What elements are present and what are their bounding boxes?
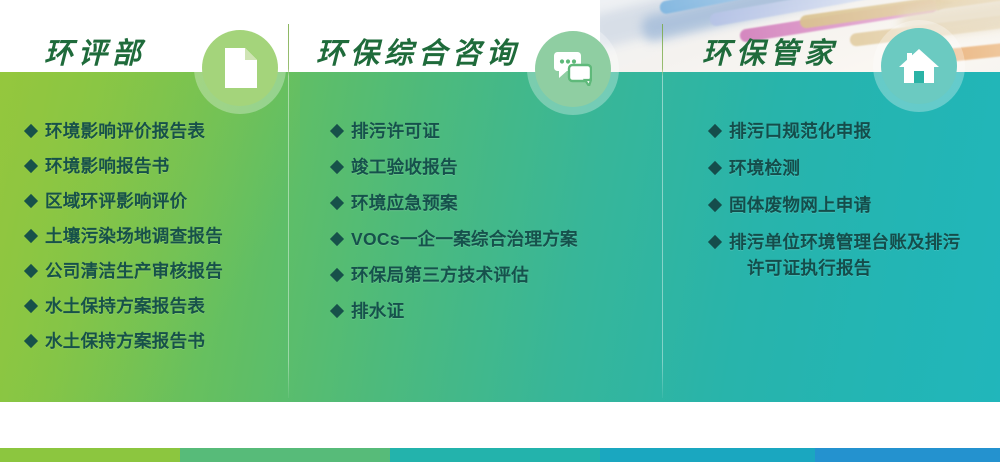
list-huanpingbu: 环境影响评价报告表 环境影响报告书 区域环评影响评价 土壤污染场地调查报告 公司… [0,118,288,354]
list-item[interactable]: VOCs一企一案综合治理方案 [332,226,662,252]
diamond-bullet-icon [330,232,344,246]
list-huanbao-guanjia: 排污口规范化申报 环境检测 固体废物网上申请 排污单位环境管理台账及排污 许可证… [662,118,1000,281]
list-item-label: 排污许可证 [351,118,440,144]
list-item[interactable]: 排污单位环境管理台账及排污 许可证执行报告 [710,229,1000,281]
segment-teal [390,448,600,462]
list-item-label: 区域环评影响评价 [45,188,187,214]
columns-container: 环评部 环境影响评价报告表 环境影响报告书 [0,0,1000,410]
list-item[interactable]: 环境应急预案 [332,190,662,216]
diamond-bullet-icon [708,124,722,138]
list-item-label: 环境应急预案 [351,190,458,216]
segment-green [0,448,180,462]
house-icon [898,47,940,85]
segment-teal-blue [600,448,815,462]
list-item[interactable]: 水土保持方案报告表 [26,293,288,319]
list-item-label: 水土保持方案报告表 [45,293,205,319]
list-item-label: VOCs一企一案综合治理方案 [351,226,578,252]
list-item[interactable]: 公司清洁生产审核报告 [26,258,288,284]
column-title-0: 环评部 [44,36,146,70]
list-item[interactable]: 竣工验收报告 [332,154,662,180]
list-item[interactable]: 排污许可证 [332,118,662,144]
column-huanbao-zonghe-zixun: 环保综合咨询 排污许可证 [288,0,662,410]
list-item[interactable]: 排水证 [332,298,662,324]
diamond-bullet-icon [708,198,722,212]
bottom-color-strip [0,448,1000,462]
list-item[interactable]: 环境检测 [710,155,1000,181]
list-item[interactable]: 排污口规范化申报 [710,118,1000,144]
list-item[interactable]: 环保局第三方技术评估 [332,262,662,288]
document-icon-badge [202,30,278,106]
diamond-bullet-icon [24,159,38,173]
diamond-bullet-icon [330,304,344,318]
document-icon [223,48,257,88]
list-item-label: 固体废物网上申请 [729,192,871,218]
list-item-label-line1: 排污单位环境管理台账及排污 [729,232,960,252]
list-huanbao-zonghe-zixun: 排污许可证 竣工验收报告 环境应急预案 VOCs一企一案综合治理方案 环保局第三… [288,118,662,324]
chat-bubble-icon [554,52,592,86]
chat-bubble-icon-badge [535,31,611,107]
list-item[interactable]: 环境影响评价报告表 [26,118,288,144]
diamond-bullet-icon [24,229,38,243]
list-item[interactable]: 环境影响报告书 [26,153,288,179]
white-gutter [0,402,1000,448]
diamond-bullet-icon [708,235,722,249]
segment-blue [815,448,1000,462]
list-item-label-line2: 许可证执行报告 [729,255,960,281]
column-heading-1: 环保综合咨询 [316,30,520,74]
diamond-bullet-icon [708,161,722,175]
list-item-label: 环境影响报告书 [45,153,170,179]
column-huanbao-guanjia: 环保管家 排污口规范化申报 环境检测 [662,0,1000,410]
list-item[interactable]: 区域环评影响评价 [26,188,288,214]
list-item-label: 竣工验收报告 [351,154,458,180]
poster-root: 环评部 环境影响评价报告表 环境影响报告书 [0,0,1000,462]
segment-green-teal [180,448,390,462]
column-title-2: 环保管家 [702,36,838,70]
list-item-label: 环保局第三方技术评估 [351,262,529,288]
diamond-bullet-icon [330,124,344,138]
list-item-label: 环境检测 [729,155,800,181]
list-item[interactable]: 固体废物网上申请 [710,192,1000,218]
column-huanpingbu: 环评部 环境影响评价报告表 环境影响报告书 [0,0,288,410]
list-item-label: 环境影响评价报告表 [45,118,205,144]
list-item-label: 公司清洁生产审核报告 [45,258,223,284]
house-icon-badge [881,28,957,104]
list-item-label-multiline: 排污单位环境管理台账及排污 许可证执行报告 [729,229,960,281]
diamond-bullet-icon [330,160,344,174]
column-title-1: 环保综合咨询 [316,36,520,70]
list-item-label: 排污口规范化申报 [729,118,871,144]
diamond-bullet-icon [330,268,344,282]
list-item[interactable]: 土壤污染场地调查报告 [26,223,288,249]
list-item-label: 土壤污染场地调查报告 [45,223,223,249]
diamond-bullet-icon [24,194,38,208]
list-item[interactable]: 水土保持方案报告书 [26,328,288,354]
diamond-bullet-icon [330,196,344,210]
diamond-bullet-icon [24,334,38,348]
diamond-bullet-icon [24,124,38,138]
list-item-label: 排水证 [351,298,404,324]
list-item-label: 水土保持方案报告书 [45,328,205,354]
diamond-bullet-icon [24,299,38,313]
column-heading-0: 环评部 [44,30,146,74]
diamond-bullet-icon [24,264,38,278]
column-heading-2: 环保管家 [702,30,838,74]
